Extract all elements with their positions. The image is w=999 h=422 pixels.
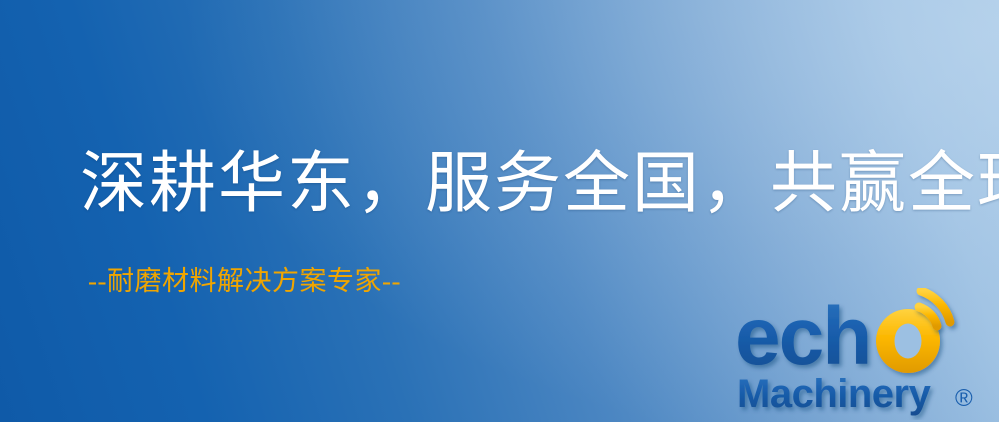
banner-headline: 深耕华东，服务全国，共赢全球	[80, 150, 999, 218]
banner-content: 深耕华东，服务全国，共赢全球 --耐磨材料解决方案专家--	[0, 0, 999, 422]
logo-text-machinery: Machinery	[737, 372, 932, 416]
logo-artwork: ech Machinery ®	[733, 288, 991, 420]
promo-banner: 深耕华东，服务全国，共赢全球 --耐磨材料解决方案专家--	[0, 0, 999, 422]
registered-trademark-icon: ®	[955, 385, 973, 412]
echo-machinery-logo[interactable]: ech Machinery ®	[733, 288, 991, 420]
logo-text-ech: ech	[735, 291, 870, 382]
banner-subtitle: --耐磨材料解决方案专家--	[88, 267, 401, 297]
